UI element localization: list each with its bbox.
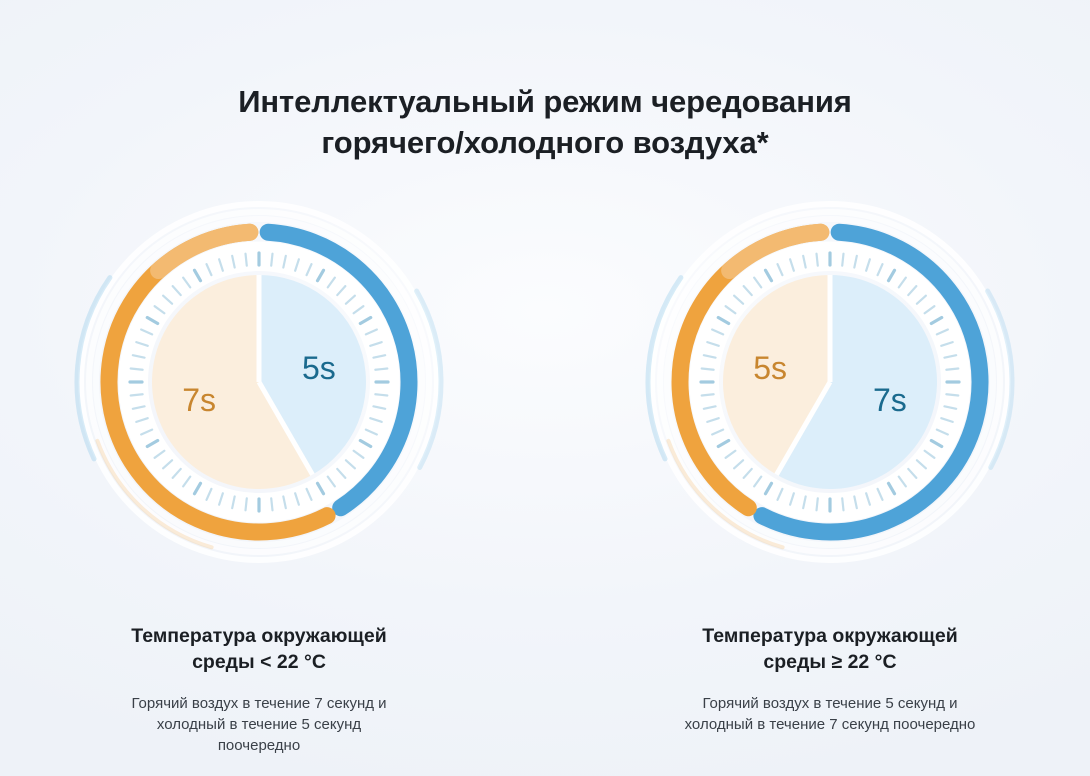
tick-mark [375,369,387,370]
panel-warm-ambient: 5s7s Температура окружающей среды ≥ 22 °… [635,196,1025,776]
caption-warm-sub: Горячий воздух в течение 5 секунд и холо… [620,693,1040,736]
caption-warm-sub-line-2: холодный в течение 7 секунд поочередно [620,714,1040,735]
tick-mark [946,369,958,370]
tick-mark [271,498,272,510]
tick-mark [842,254,843,266]
caption-cold-sub-line-3: поочередно [64,735,454,756]
tick-mark [131,394,143,395]
caption-warm-head: Температура окружающей среды ≥ 22 °C [635,624,1025,676]
cold-duration-label: 5s [302,350,336,386]
caption-warm-head-line-2: среды ≥ 22 °C [635,650,1025,676]
hot-duration-label: 5s [753,350,787,386]
dials-container: 7s5s Температура окружающей среды < 22 °… [0,0,1090,776]
caption-cold-sub: Горячий воздух в течение 7 секунд и холо… [64,693,454,757]
dial-warm-ambient: 5s7s [635,196,1025,568]
tick-mark [131,369,143,370]
caption-cold-head: Температура окружающей среды < 22 °C [64,624,454,676]
caption-cold-sub-line-2: холодный в течение 5 секунд [64,714,454,735]
cold-duration-label: 7s [873,382,907,418]
tick-mark [817,254,818,266]
hot-duration-label: 7s [182,382,216,418]
panel-cold-ambient: 7s5s Температура окружающей среды < 22 °… [64,196,454,776]
caption-warm-head-line-1: Температура окружающей [635,624,1025,650]
caption-cold-head-line-2: среды < 22 °C [64,650,454,676]
tick-mark [946,394,958,395]
tick-mark [246,254,247,266]
tick-mark [702,394,714,395]
caption-cold-ambient: Температура окружающей среды < 22 °C Гор… [64,624,454,757]
tick-mark [702,369,714,370]
caption-cold-sub-line-1: Горячий воздух в течение 7 секунд и [64,693,454,714]
tick-mark [246,498,247,510]
caption-cold-head-line-1: Температура окружающей [64,624,454,650]
dial-cold-ambient-graphic: 7s5s [64,196,454,568]
tick-mark [817,498,818,510]
tick-mark [271,254,272,266]
dial-cold-ambient: 7s5s [64,196,454,568]
caption-warm-sub-line-1: Горячий воздух в течение 5 секунд и [620,693,1040,714]
tick-mark [375,394,387,395]
dial-warm-ambient-graphic: 5s7s [635,196,1025,568]
caption-warm-ambient: Температура окружающей среды ≥ 22 °C Гор… [635,624,1025,735]
tick-mark [842,498,843,510]
